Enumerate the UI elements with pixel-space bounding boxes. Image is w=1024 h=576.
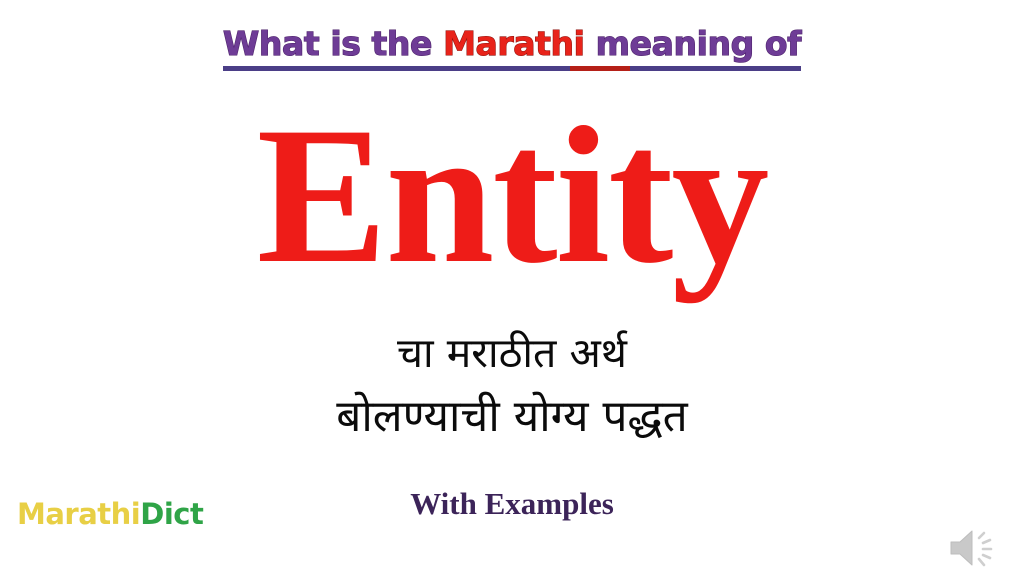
header-underline-segment-highlight (570, 66, 630, 71)
header-text-prefix: What is the (223, 24, 443, 63)
marathi-line-2: बोलण्याची योग्य पद्धत (0, 385, 1024, 448)
header-underline-segment-left (223, 66, 570, 71)
slide-canvas: What is the Marathi meaning of Entity चा… (0, 0, 1024, 576)
marathi-line-1: चा मराठीत अर्थ (0, 322, 1024, 385)
speaker-volume-icon[interactable] (944, 526, 1006, 570)
header-underline (223, 66, 801, 71)
header-text-suffix: meaning of (585, 24, 802, 63)
header-question-line: What is the Marathi meaning of (223, 24, 801, 64)
header-text-highlight: Marathi (443, 24, 584, 63)
marathi-translation-block: चा मराठीत अर्थ बोलण्याची योग्य पद्धत (0, 322, 1024, 448)
logo-text-dict: Dict (140, 497, 203, 531)
marathidict-logo: MarathiDict (17, 497, 203, 531)
header-underline-segment-right (630, 66, 801, 71)
header-question: What is the Marathi meaning of (0, 24, 1024, 64)
hero-word: Entity (0, 96, 1024, 296)
logo-text-marathi: Marathi (17, 497, 140, 531)
